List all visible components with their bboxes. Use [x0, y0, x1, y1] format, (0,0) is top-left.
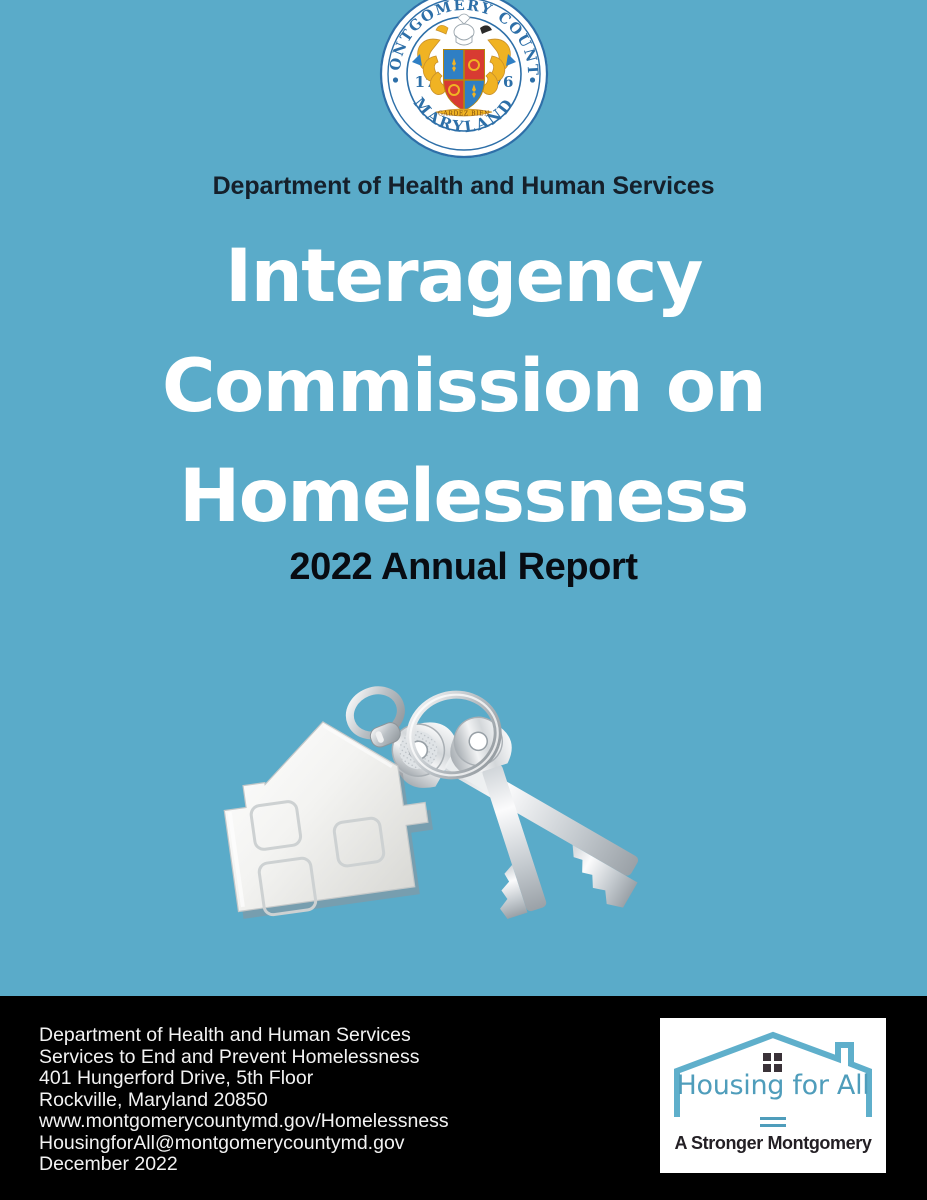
- website-url[interactable]: www.montgomerycountymd.gov/Homelessness: [39, 1111, 449, 1133]
- housing-for-all-logo: Housing for All A Stronger Montgomery: [660, 1018, 886, 1173]
- email-address[interactable]: HousingforAll@montgomerycountymd.gov: [39, 1133, 449, 1155]
- svg-text:GARDEZ BIEN: GARDEZ BIEN: [438, 111, 490, 118]
- report-cover-page: MONTGOMERY COUNTY MARYLAND 17 76: [0, 0, 927, 1200]
- equals-icon: [760, 1117, 786, 1131]
- title-line-2: Commission on: [0, 332, 927, 442]
- address-line-1: Department of Health and Human Services: [39, 1025, 449, 1047]
- title-line-3: Homelessness: [0, 442, 927, 552]
- address-line-2: Services to End and Prevent Homelessness: [39, 1047, 449, 1069]
- page-title: Interagency Commission on Homelessness: [0, 222, 927, 552]
- address-line-3: 401 Hungerford Drive, 5th Floor: [39, 1068, 449, 1090]
- department-heading: Department of Health and Human Services: [0, 172, 927, 201]
- logo-headline: Housing for All: [660, 1070, 886, 1101]
- house-keychain-photo: [186, 645, 686, 995]
- title-line-1: Interagency: [0, 222, 927, 332]
- logo-tagline: A Stronger Montgomery: [660, 1133, 886, 1154]
- address-line-4: Rockville, Maryland 20850: [39, 1090, 449, 1112]
- montgomery-county-seal: MONTGOMERY COUNTY MARYLAND 17 76: [378, 0, 550, 160]
- report-subtitle: 2022 Annual Report: [0, 546, 927, 589]
- publication-date: December 2022: [39, 1154, 449, 1176]
- contact-address-block: Department of Health and Human Services …: [39, 1025, 449, 1176]
